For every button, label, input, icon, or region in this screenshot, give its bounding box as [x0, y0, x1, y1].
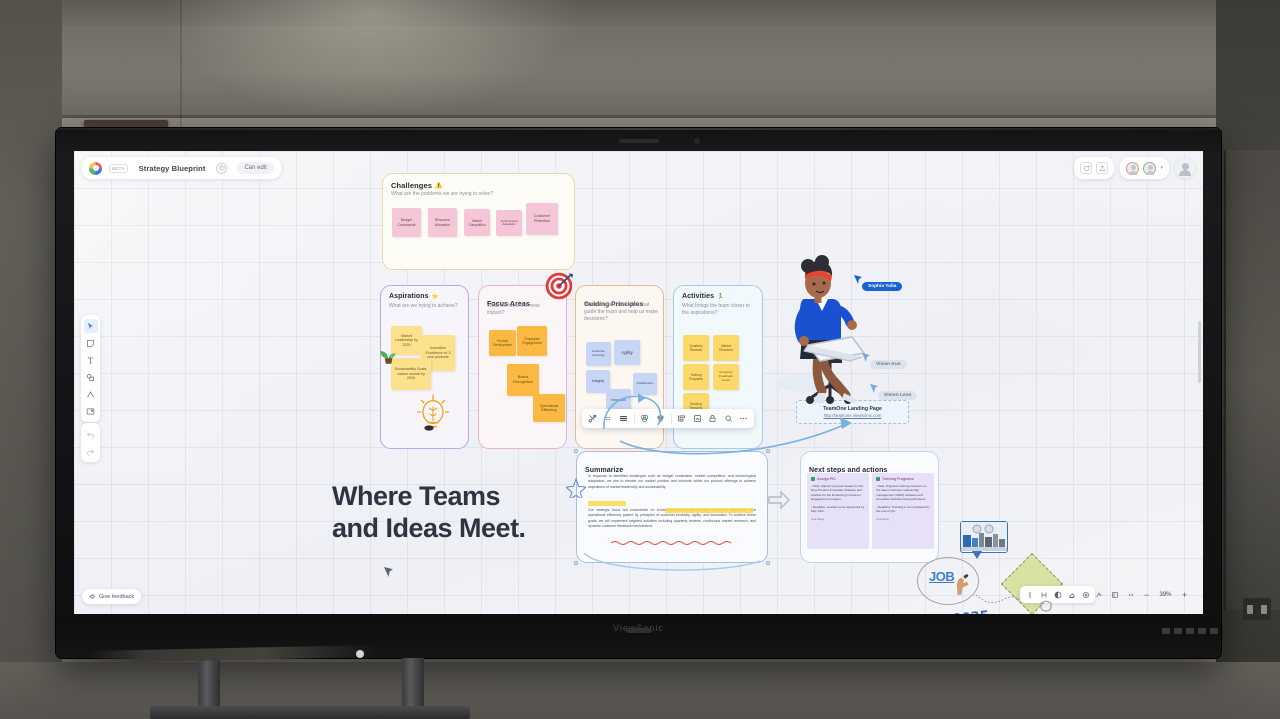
shield-icon[interactable]	[1039, 600, 1053, 612]
cursor-pointer-icon-2	[862, 353, 870, 362]
arrow-right-doodle	[768, 491, 790, 509]
highlight-enhancing-product-development	[665, 508, 753, 513]
image-speech-bubble[interactable]	[960, 521, 1008, 553]
highlight-market-leadership	[588, 501, 626, 506]
presence-icon[interactable]	[1126, 590, 1135, 599]
next-step-note-1-author: Lisa Wang	[811, 517, 865, 521]
lightbulb-doodle-icon	[413, 390, 453, 438]
sticky-note-tool[interactable]	[84, 336, 98, 350]
cursor-tag-sophia-yulia: Sophia Yulia	[862, 282, 902, 291]
card-activities-title: Activities	[682, 293, 714, 300]
note-market-competition[interactable]: Market Competition	[464, 209, 490, 236]
job-text-doodle: JOB	[929, 569, 954, 584]
image-tool[interactable]	[84, 404, 98, 418]
hand-writing-icon	[954, 573, 970, 595]
card-focus-areas[interactable]: Focus Areas What will have the most impa…	[478, 285, 567, 449]
history-toolbar	[81, 423, 100, 462]
hash-2025-doodle: #2025	[941, 609, 989, 614]
header-right-controls: ▾	[1074, 157, 1195, 179]
card-activities-subtitle: What brings the team closer to the aspir…	[682, 303, 758, 317]
wall-seam	[180, 0, 182, 132]
left-toolbar	[81, 315, 100, 422]
presence-group: ▾	[1120, 157, 1169, 179]
note-market-research[interactable]: Market Research	[713, 335, 739, 361]
permission-badge[interactable]: Can edit	[237, 162, 273, 174]
selection-handle-br[interactable]	[766, 561, 770, 565]
note-agility[interactable]: Agility	[614, 340, 640, 365]
wall-right-board	[1224, 150, 1280, 610]
checkbox-icon-1[interactable]	[811, 477, 815, 481]
redo-button[interactable]	[84, 444, 98, 458]
selection-handle-bl[interactable]	[574, 561, 578, 565]
sensor-dot	[694, 138, 700, 144]
card-challenges-subtitle: What are the problems we are trying to s…	[391, 191, 563, 198]
comment-icon[interactable]	[1080, 162, 1092, 174]
blue-connector-arrow-2	[602, 391, 692, 433]
runner-icon: 🏃	[717, 294, 724, 300]
note-customer-centricity[interactable]: Customer Centricity	[586, 342, 611, 366]
text-tool[interactable]	[84, 353, 98, 367]
eraser-icon[interactable]	[1067, 590, 1076, 599]
next-step-note-2-label: Training Programs	[882, 477, 914, 481]
zoom-out-button[interactable]: −	[1142, 590, 1151, 599]
pen-tool[interactable]	[84, 387, 98, 401]
next-step-note-2-body: - Task: Organize training sessions on th…	[876, 484, 930, 502]
note-quarterly-reviews[interactable]: Quarterly Reviews	[683, 335, 709, 361]
light-glow	[160, 0, 580, 120]
note-resource-allocation[interactable]: Resource Allocation	[428, 208, 457, 237]
pen-tools-group	[1020, 586, 1095, 603]
app-logo-icon[interactable]	[89, 162, 102, 175]
wall-trim	[62, 115, 1217, 118]
display-screen: BETA Strategy Blueprint Can edit	[74, 151, 1203, 614]
next-step-note-1-label: Assign PIC	[817, 477, 836, 481]
dashed-connector	[974, 593, 1022, 607]
zoom-level-label[interactable]: 39%	[1158, 592, 1173, 598]
board-heading-line-1: Where Teams	[332, 481, 568, 513]
speech-bubble-tail	[972, 551, 982, 559]
card-challenges[interactable]: Challenges ⚠️ What are the problems we a…	[382, 173, 575, 270]
wall-left-panel	[0, 0, 62, 719]
display-power-nub	[626, 628, 652, 633]
board-heading-line-2: and Ideas Meet.	[332, 513, 568, 545]
next-step-note-2[interactable]: Training Programs - Task: Organize train…	[872, 473, 934, 549]
bezel-highlight	[56, 128, 1221, 130]
vertical-scrollbar[interactable]	[1198, 321, 1201, 383]
squiggle-underline	[611, 540, 731, 546]
camera-bar	[619, 139, 659, 143]
note-brand-recognition[interactable]: Brand Recognition	[507, 364, 539, 396]
pointer-trail-icon[interactable]	[1094, 590, 1103, 599]
card-aspirations-title: Aspirations	[389, 293, 429, 300]
beta-badge: BETA	[109, 164, 128, 173]
next-step-note-1[interactable]: Assign PIC - Task: Appoint a project lea…	[807, 473, 869, 549]
zoom-in-button[interactable]: +	[1180, 590, 1189, 599]
cursor-tag-vivian-kuo: Vivian Kuo	[870, 360, 907, 369]
interactive-display: ViewSonic BETA Strategy Blueprint Can ed…	[56, 128, 1221, 658]
note-budget-constraints[interactable]: Budget Constraints	[392, 208, 421, 237]
warning-icon: ⚠️	[435, 182, 442, 189]
note-employee-engagement[interactable]: Employee Engagement	[517, 326, 547, 356]
pen-mark-icon[interactable]	[1039, 590, 1048, 599]
cursor-pointer-icon-1	[854, 275, 862, 284]
card-aspirations[interactable]: Aspirations ⭐ What are we trying to achi…	[380, 285, 469, 449]
card-next-steps[interactable]: Next steps and actions Assign PIC - Task…	[800, 451, 939, 563]
note-operational-efficiency[interactable]: Operational Efficiency	[533, 394, 565, 422]
city-photo-thumbnail	[961, 522, 1007, 551]
note-customer-retention[interactable]: Customer Retention	[526, 203, 558, 235]
next-step-note-1-deadline: - Deadline: Leaders to be appointed by M…	[811, 505, 865, 514]
select-tool[interactable]	[84, 319, 98, 333]
plant-sprout-icon	[377, 344, 399, 366]
document-title[interactable]: Strategy Blueprint	[139, 164, 206, 173]
account-avatar[interactable]	[1175, 158, 1195, 178]
star-doodle-icon	[566, 478, 586, 498]
card-summarize[interactable]: Summarize In response to identified chal…	[576, 451, 768, 563]
next-step-note-1-body: - Task: Appoint a project leader for the…	[811, 484, 865, 502]
undo-button[interactable]	[84, 427, 98, 441]
share-icon[interactable]	[1096, 162, 1108, 174]
header-icon-group	[1074, 157, 1114, 179]
shapes-tool[interactable]	[84, 370, 98, 384]
board-heading[interactable]: Where Teams and Ideas Meet.	[332, 481, 568, 545]
note-technological-adaptation[interactable]: Technological Adaptation	[496, 210, 522, 236]
contrast-icon[interactable]	[1053, 590, 1062, 599]
card-guiding-principles-subtitle: What are the core values that guide the …	[584, 302, 658, 322]
summarize-paragraph-1: In response to identified challenges suc…	[588, 474, 756, 490]
selection-handle-tl[interactable]	[574, 449, 578, 453]
give-feedback-label: Give feedback	[99, 594, 134, 600]
checkbox-icon-2[interactable]	[876, 477, 880, 481]
minimap-icon[interactable]	[1110, 590, 1119, 599]
user-avatar-2[interactable]	[1143, 162, 1156, 175]
blue-connector-arrow-3	[582, 551, 762, 577]
card-summarize-title: Summarize	[585, 467, 623, 474]
wall-outlet	[1243, 598, 1271, 620]
target-dart-icon	[545, 272, 573, 300]
clock-icon[interactable]	[216, 163, 227, 174]
display-stand-base	[150, 706, 470, 719]
next-step-note-2-author: Lisa Wang	[876, 517, 930, 521]
card-challenges-title: Challenges	[391, 181, 432, 190]
give-feedback-button[interactable]: Give feedback	[82, 589, 141, 604]
chevron-down-icon[interactable]: ▾	[1160, 165, 1163, 171]
display-ports	[1162, 628, 1220, 636]
megaphone-icon	[89, 593, 96, 600]
user-avatar-1[interactable]	[1126, 162, 1139, 175]
card-focus-areas-subtitle: What will have the most impact?	[487, 303, 555, 317]
app-header: BETA Strategy Blueprint Can edit	[82, 157, 281, 179]
whiteboard-canvas[interactable]: BETA Strategy Blueprint Can edit	[74, 151, 1203, 614]
stylus-tip	[356, 650, 364, 658]
cursor-pointer-icon[interactable]	[1025, 590, 1034, 599]
note-product-development[interactable]: Product Development	[489, 330, 516, 356]
zoom-controls: − 39% +	[1088, 586, 1195, 603]
card-aspirations-subtitle: What are we trying to achieve?	[389, 303, 461, 310]
board-cursor-icon	[384, 567, 393, 577]
next-step-note-2-deadline: - Deadline: Training to be completed by …	[876, 505, 930, 514]
star-icon: ⭐	[432, 294, 439, 300]
